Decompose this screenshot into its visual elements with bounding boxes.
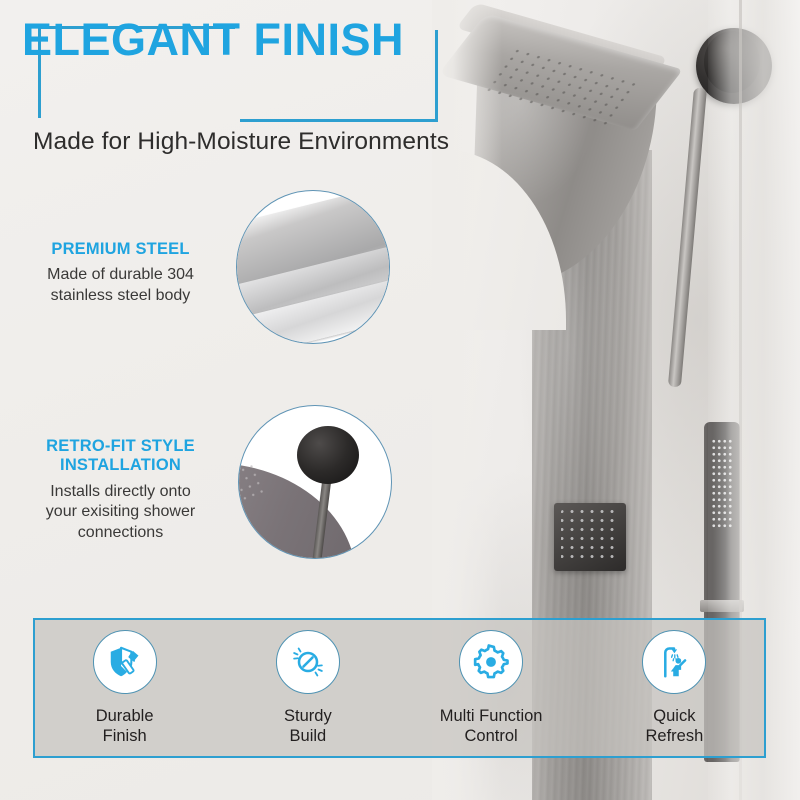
bracket-bottom-line (240, 119, 438, 122)
stainless-steel-sheets-photo (236, 190, 390, 344)
benefit-item-quick-refresh[interactable]: Quick Refresh (583, 630, 766, 746)
benefit-label: Durable Finish (96, 706, 154, 746)
benefit-icon-circle (276, 630, 340, 694)
chain-link-icon (290, 644, 326, 680)
benefit-icon-circle (459, 630, 523, 694)
feature-description: Made of durable 304 stainless steel body (18, 265, 223, 306)
bracket-right-line (435, 30, 438, 122)
benefit-item-durable-finish[interactable]: Durable Finish (33, 630, 216, 746)
gear-icon (472, 643, 510, 681)
benefit-label: Sturdy Build (284, 706, 332, 746)
benefit-icon-circle (642, 630, 706, 694)
feature-title: PREMIUM STEEL (18, 240, 223, 259)
benefit-icon-circle (93, 630, 157, 694)
shower-person-icon (655, 643, 693, 681)
benefit-label: Quick Refresh (645, 706, 703, 746)
feature-block-retro-fit: RETRO-FIT STYLE INSTALLATION Installs di… (18, 437, 223, 543)
benefits-list: Durable Finish Sturdy Build Multi Fu (33, 618, 766, 758)
shower-wall-connection-photo (238, 405, 392, 559)
infographic-canvas: ELEGANT FINISH Made for High-Moisture En… (0, 0, 800, 800)
feature-block-premium-steel: PREMIUM STEEL Made of durable 304 stainl… (18, 240, 223, 306)
benefit-label: Multi Function Control (440, 706, 543, 746)
feature-description: Installs directly onto your exisiting sh… (18, 482, 223, 543)
page-title: ELEGANT FINISH (22, 17, 404, 62)
page-subtitle: Made for High-Moisture Environments (33, 128, 449, 156)
benefit-item-multi-function-control[interactable]: Multi Function Control (400, 630, 583, 746)
benefit-item-sturdy-build[interactable]: Sturdy Build (216, 630, 399, 746)
retrofit-black-wall-mount (297, 426, 359, 484)
square-body-jet (561, 510, 617, 562)
feature-title: RETRO-FIT STYLE INSTALLATION (18, 437, 223, 476)
shield-brush-icon (106, 643, 144, 681)
